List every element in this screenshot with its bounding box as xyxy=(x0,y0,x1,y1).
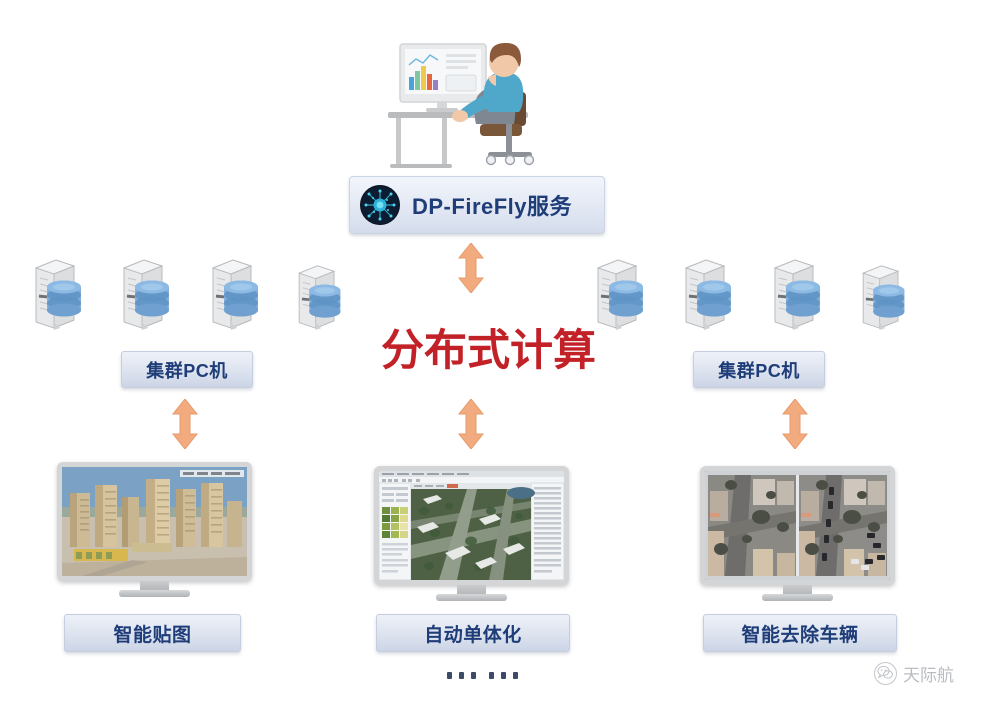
firefly-burst-icon xyxy=(360,185,400,225)
workstation-singulation[interactable] xyxy=(374,466,569,601)
screen-content-3d-software xyxy=(379,471,564,580)
screen-content-aerial-compare xyxy=(705,471,890,580)
cluster-right-servers xyxy=(588,250,933,338)
page-title-distributed-computing: 分布式计算 xyxy=(381,316,596,378)
diagram-canvas: DP-FireFly服务 分布式计算 xyxy=(0,0,989,711)
server-database-icon[interactable] xyxy=(26,254,86,334)
cluster-left-servers xyxy=(20,250,360,338)
wechat-badge-icon xyxy=(874,662,897,685)
workstation-label-vehicle-removal-text: 智能去除车辆 xyxy=(741,620,858,647)
monitor-base xyxy=(762,594,833,601)
server-database-icon[interactable] xyxy=(203,254,263,334)
workstation-label-texturing[interactable]: 智能贴图 xyxy=(64,614,241,652)
workstation-label-singulation[interactable]: 自动单体化 xyxy=(376,614,570,652)
desktop-monitor-icon xyxy=(374,466,569,585)
desktop-monitor-icon xyxy=(57,462,252,581)
screen-content-3d-city xyxy=(62,467,247,576)
ellipsis-indicator xyxy=(447,672,518,679)
server-database-icon[interactable] xyxy=(765,254,825,334)
desktop-monitor-icon xyxy=(700,466,895,585)
workstation-label-texturing-text: 智能贴图 xyxy=(113,620,191,647)
watermark-text: 天际航 xyxy=(903,661,954,686)
workstation-label-singulation-text: 自动单体化 xyxy=(424,620,522,647)
cluster-left-label-text: 集群PC机 xyxy=(146,357,228,383)
cluster-right-label-text: 集群PC机 xyxy=(718,357,800,383)
double-headed-vertical-arrow-icon xyxy=(456,243,486,293)
server-database-icon[interactable] xyxy=(854,260,914,340)
server-database-icon[interactable] xyxy=(588,254,648,334)
cluster-left-label[interactable]: 集群PC机 xyxy=(121,351,253,388)
double-headed-vertical-arrow-icon xyxy=(780,399,810,449)
workstation-vehicle-removal[interactable] xyxy=(700,466,895,601)
person-at-desk-icon xyxy=(380,32,560,177)
watermark-brand: 天际航 xyxy=(874,661,954,686)
service-label-dp-firefly[interactable]: DP-FireFly服务 xyxy=(349,176,605,234)
service-label-text: DP-FireFly服务 xyxy=(412,189,572,221)
server-database-icon[interactable] xyxy=(290,260,350,340)
monitor-base xyxy=(436,594,507,601)
double-headed-vertical-arrow-icon xyxy=(456,399,486,449)
double-headed-vertical-arrow-icon xyxy=(170,399,200,449)
workstation-label-vehicle-removal[interactable]: 智能去除车辆 xyxy=(703,614,897,652)
server-database-icon[interactable] xyxy=(114,254,174,334)
server-database-icon[interactable] xyxy=(676,254,736,334)
cluster-right-label[interactable]: 集群PC机 xyxy=(693,351,825,388)
monitor-base xyxy=(119,590,190,597)
workstation-texturing[interactable] xyxy=(57,462,252,597)
